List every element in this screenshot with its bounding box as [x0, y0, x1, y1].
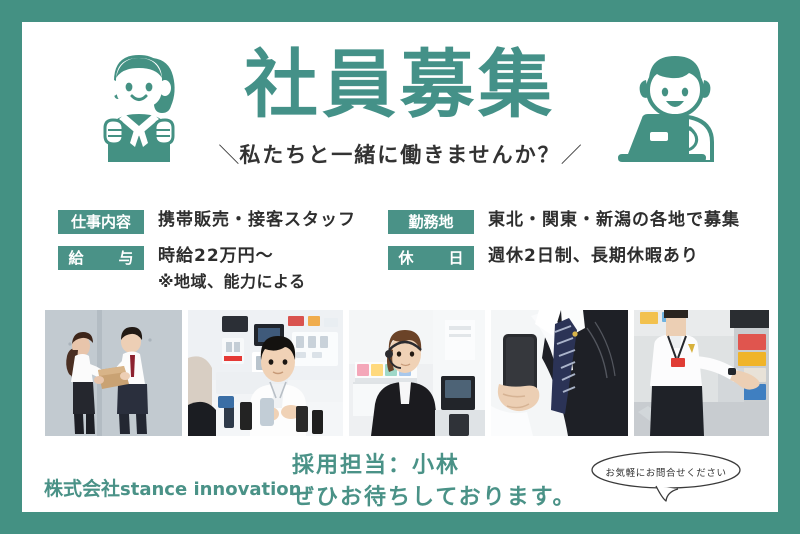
bubble-text: お気軽にお問合せください	[590, 465, 742, 479]
page-title: 社員募集	[22, 42, 778, 128]
slash-right-icon: ／	[561, 140, 582, 170]
company-name: 株式会社stance innovation	[44, 474, 301, 501]
poster-canvas: 社員募集 ＼私たちと一緒に働きませんか？／ 仕事内容 携帯販売・接客スタッフ 勤…	[22, 22, 778, 512]
photo-store-floor-staff	[634, 310, 769, 436]
photo-handing-documents	[45, 310, 182, 436]
company-name-jp: 株式会社	[44, 478, 120, 500]
recruiter-closing: ぜひお待ちしております。	[292, 482, 576, 512]
info-label-badge: 給 与	[58, 246, 144, 270]
info-cell-job-content: 仕事内容 携帯販売・接客スタッフ	[58, 208, 388, 234]
slash-left-icon: ＼	[218, 140, 239, 170]
info-cell-holidays: 休 日 週休2日制、長期休暇あり	[388, 244, 738, 270]
info-value-main: 東北・関東・新潟の各地で募集	[488, 210, 740, 230]
photo-suit-holding-phone	[491, 310, 628, 436]
info-label-badge: 仕事内容	[58, 210, 144, 234]
info-value-main: 週休2日制、長期休暇あり	[488, 246, 699, 266]
info-cell-location: 勤務地 東北・関東・新潟の各地で募集	[388, 208, 738, 234]
info-label-badge: 勤務地	[388, 210, 474, 234]
page-subtitle: ＼私たちと一緒に働きませんか？／	[22, 140, 778, 170]
info-row: 仕事内容 携帯販売・接客スタッフ 勤務地 東北・関東・新潟の各地で募集	[58, 208, 748, 234]
info-cell-salary: 給 与 時給22万円〜※地域、能力による	[58, 244, 388, 294]
info-label-badge: 休 日	[388, 246, 474, 270]
recruiter-name: 採用担当：小林	[292, 450, 576, 482]
info-value-main: 時給22万円〜	[158, 246, 274, 266]
info-value: 携帯販売・接客スタッフ	[158, 208, 356, 233]
contact-speech-bubble: お気軽にお問合せください	[590, 450, 742, 502]
recruiter-message: 採用担当：小林 ぜひお待ちしております。	[292, 450, 576, 512]
company-name-en: stance innovation	[120, 479, 301, 500]
info-value: 時給22万円〜※地域、能力による	[158, 244, 306, 294]
info-value: 東北・関東・新潟の各地で募集	[488, 208, 740, 233]
recruitment-poster: 社員募集 ＼私たちと一緒に働きませんか？／ 仕事内容 携帯販売・接客スタッフ 勤…	[0, 0, 800, 534]
subtitle-text: 私たちと一緒に働きませんか？	[239, 143, 560, 167]
info-value-main: 携帯販売・接客スタッフ	[158, 210, 356, 230]
photo-shop-counter-staff	[188, 310, 343, 436]
photo-headset-staff	[349, 310, 485, 436]
photo-strip	[45, 310, 757, 436]
info-value: 週休2日制、長期休暇あり	[488, 244, 699, 269]
info-value-note: ※地域、能力による	[158, 269, 306, 294]
job-info-table: 仕事内容 携帯販売・接客スタッフ 勤務地 東北・関東・新潟の各地で募集 給 与 …	[58, 208, 748, 304]
info-row: 給 与 時給22万円〜※地域、能力による 休 日 週休2日制、長期休暇あり	[58, 244, 748, 294]
